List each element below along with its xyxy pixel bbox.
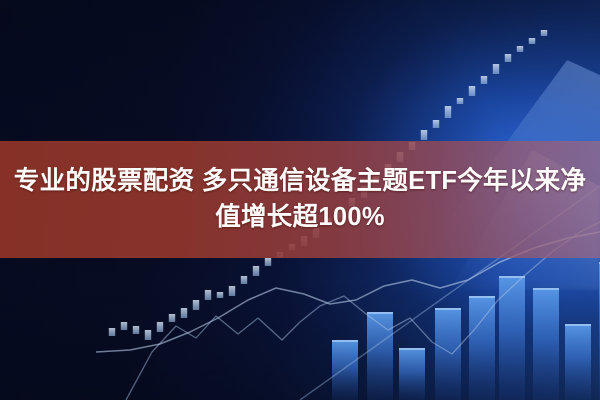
headline-line-1: 专业的股票配资 多只通信设备主题ETF今年以来净 — [14, 166, 586, 197]
headline-line-2: 值增长超100% — [215, 202, 385, 233]
headline-block: 专业的股票配资 多只通信设备主题ETF今年以来净 值增长超100% — [0, 141, 600, 258]
banner-image: 专业的股票配资 多只通信设备主题ETF今年以来净 值增长超100% — [0, 0, 600, 400]
volume-bars-group — [332, 262, 600, 400]
